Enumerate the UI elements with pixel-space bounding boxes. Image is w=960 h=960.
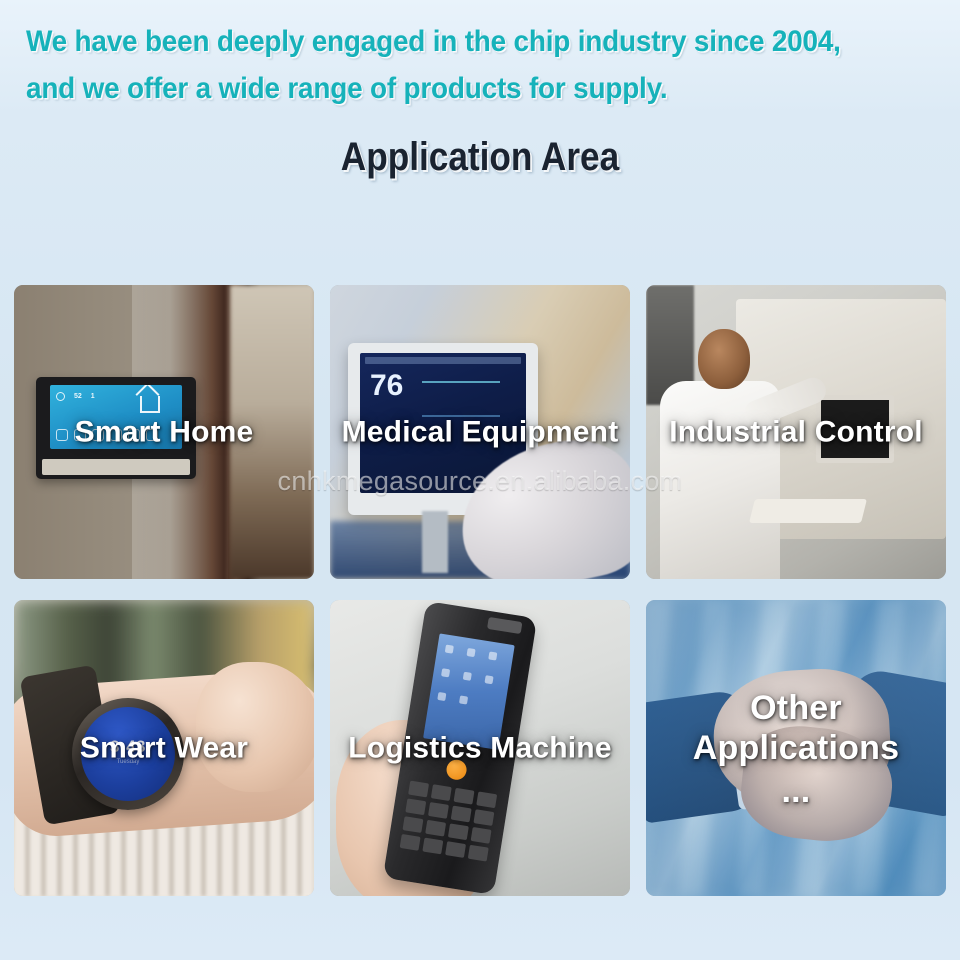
- pda-key: [448, 823, 469, 840]
- card-label-other-applications: Other Applications ...: [646, 688, 946, 808]
- pda-app-icon: [459, 695, 468, 704]
- pda-key: [473, 809, 494, 826]
- card-label-industrial-control: Industrial Control: [646, 414, 946, 451]
- card-smart-wear[interactable]: 3:43 Tuesday Smart Wear: [14, 600, 314, 896]
- monitor-stand: [422, 511, 448, 573]
- pda-key: [471, 827, 492, 844]
- monitor-header-bar: [365, 357, 521, 364]
- panel-badge: 52: [74, 393, 82, 400]
- pda-app-icon: [437, 692, 446, 701]
- pda-key: [476, 791, 497, 808]
- pda-keypad: [397, 781, 497, 878]
- pda-app-icon: [441, 668, 450, 677]
- card-label-smart-home: Smart Home: [14, 414, 314, 451]
- pda-key: [422, 838, 443, 855]
- card-label-other-line1: Other: [750, 689, 842, 727]
- pda-key: [454, 788, 475, 805]
- panel-temp: 1: [91, 393, 95, 400]
- home-icon: [140, 396, 160, 413]
- card-label-smart-wear: Smart Wear: [14, 730, 314, 767]
- technician-head: [698, 329, 750, 389]
- card-industrial-control[interactable]: Industrial Control: [646, 285, 946, 579]
- pda-key: [405, 798, 426, 815]
- ecg-waveform: [422, 381, 500, 383]
- pda-key: [468, 845, 489, 862]
- control-keyboard: [749, 499, 867, 523]
- pda-app-icon: [445, 645, 454, 654]
- panel-base: [42, 459, 190, 475]
- pda-key: [445, 841, 466, 858]
- headline-line-1: We have been deeply engaged in the chip …: [26, 18, 870, 65]
- card-label-logistics-machine: Logistics Machine: [330, 730, 630, 767]
- pda-app-icon: [466, 648, 475, 657]
- pda-key: [402, 816, 423, 833]
- vital-value: 76: [370, 371, 403, 401]
- pda-app-icon: [484, 675, 493, 684]
- pda-key: [408, 781, 429, 798]
- application-area-grid: 52 1 Smart Home: [14, 285, 946, 896]
- barcode-scanner-head: [487, 617, 522, 634]
- pda-key: [451, 806, 472, 823]
- pda-app-icon: [463, 672, 472, 681]
- card-medical-equipment[interactable]: 76 Medical Equipment: [330, 285, 630, 579]
- hand-fist: [196, 662, 314, 792]
- pda-key: [428, 802, 449, 819]
- pda-key: [431, 784, 452, 801]
- headline-line-2: and we offer a wide range of products fo…: [26, 65, 870, 112]
- card-label-other-dots: ...: [652, 774, 940, 808]
- pda-key: [425, 820, 446, 837]
- card-label-other-line2: Applications: [693, 729, 899, 767]
- card-other-applications[interactable]: Other Applications ...: [646, 600, 946, 896]
- headline-block: We have been deeply engaged in the chip …: [0, 0, 960, 112]
- pda-key: [400, 834, 421, 851]
- card-label-medical-equipment: Medical Equipment: [330, 414, 630, 451]
- card-smart-home[interactable]: 52 1 Smart Home: [14, 285, 314, 579]
- pda-app-icon: [488, 651, 497, 660]
- card-logistics-machine[interactable]: Logistics Machine: [330, 600, 630, 896]
- page-title: Application Area: [58, 134, 903, 180]
- panel-status-row: 52 1: [56, 392, 95, 401]
- weather-icon: [56, 392, 65, 401]
